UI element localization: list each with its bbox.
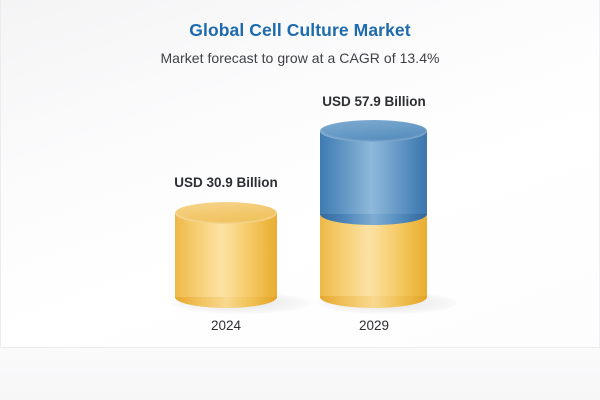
bar-chart: USD 30.9 Billion 2024 USD 57.9 Billion: [0, 0, 600, 345]
bar-value-label-2024: USD 30.9 Billion: [116, 175, 336, 190]
bar-cylinder-body-cover-2029-upper: [320, 131, 427, 214]
bar-category-label-2029: 2029: [264, 318, 484, 333]
infographic-canvas: Global Cell Culture Market Market foreca…: [0, 0, 600, 400]
footer-bar: https://www.researchandmarkets.com/repor…: [0, 348, 600, 400]
bar-cylinder-top-2029: [320, 120, 427, 142]
bar-value-label-2029: USD 57.9 Billion: [264, 94, 484, 109]
bar-cylinder-body-cover-2029-lower: [320, 214, 427, 296]
bar-cylinder-2029-upper: [320, 120, 427, 225]
bar-cylinder-2024: [175, 202, 277, 307]
bar-cylinder-top-2024: [175, 202, 277, 224]
bar-cylinder-body-cover-2024: [175, 213, 277, 297]
